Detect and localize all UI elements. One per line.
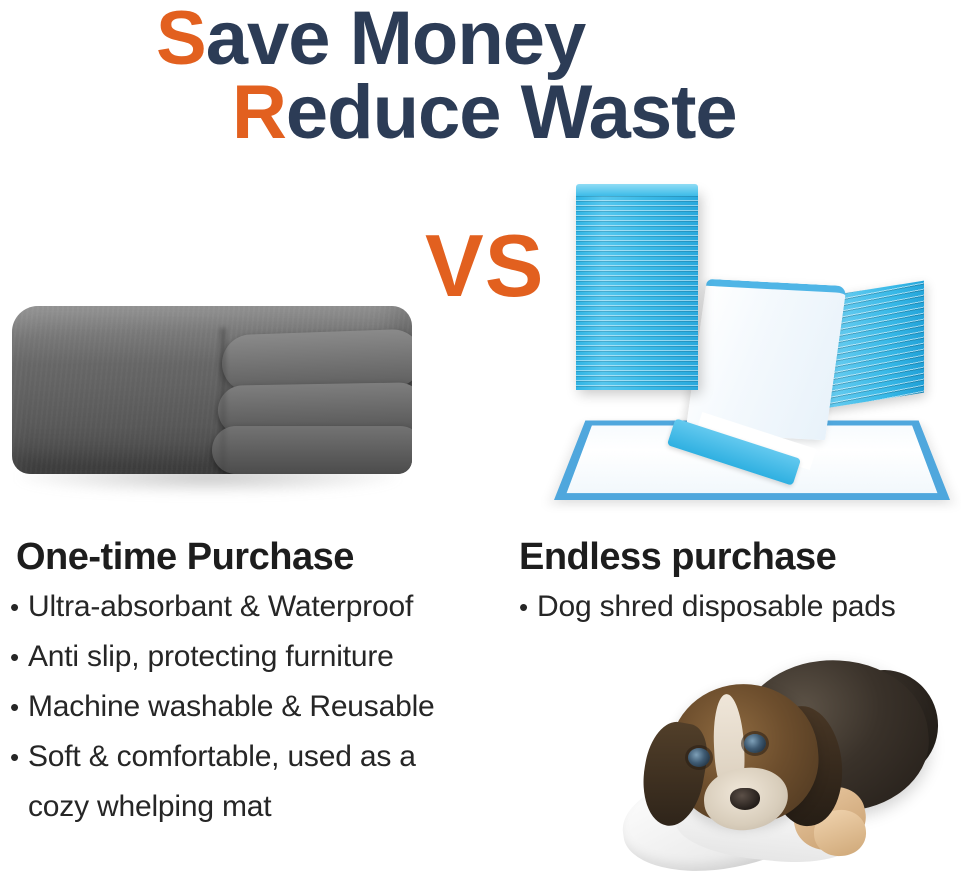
headline-line-2-accent: R [232,70,286,155]
blanket-crease [220,328,226,474]
blue-pads-image [548,186,958,504]
left-column: One-time Purchase Ultra-absorbant & Wate… [10,536,510,832]
blanket-body [12,306,412,474]
puppy-photo [618,648,958,870]
blanket-fold-bottom [212,426,412,474]
headline-line-2-rest: educe Waste [286,70,737,155]
list-item-continuation: cozy whelping mat [10,782,510,832]
left-column-title: One-time Purchase [10,536,510,578]
headline-line-2: Reduce Waste [0,76,961,150]
headline-line-1: Save Money [0,2,961,76]
list-item: Soft & comfortable, used as a [10,732,510,782]
pad-stack-primary [576,190,698,390]
pad-stack-primary-top [576,184,698,196]
headline-line-1-rest: ave Money [206,0,586,81]
grey-blanket-image [4,292,424,507]
right-column: Endless purchase Dog shred disposable pa… [519,536,959,632]
left-benefit-list: Ultra-absorbant & Waterproof Anti slip, … [10,582,510,832]
page-title: Save Money Reduce Waste [0,2,961,150]
right-column-title: Endless purchase [519,536,959,578]
puppy-eye-right [744,734,766,753]
list-item: Ultra-absorbant & Waterproof [10,582,510,632]
versus-label: VS [425,222,544,310]
right-drawback-list: Dog shred disposable pads [519,582,959,632]
list-item: Dog shred disposable pads [519,582,959,632]
puppy-nose [730,788,760,810]
promo-canvas: Save Money Reduce Waste VS One-time Purc… [0,0,961,875]
list-item: Anti slip, protecting furniture [10,632,510,682]
puppy-eye-left [688,748,710,767]
list-item: Machine washable & Reusable [10,682,510,732]
headline-line-1-accent: S [156,0,206,81]
